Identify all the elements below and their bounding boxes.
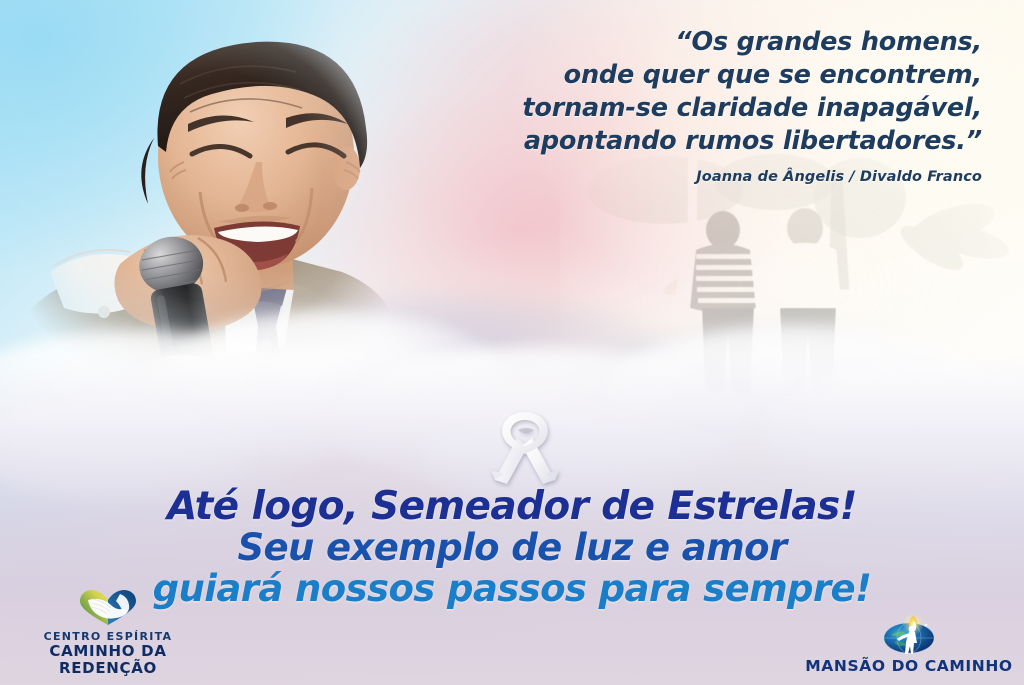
quote-line-1: “Os grandes homens,: [422, 26, 982, 59]
logo-right-line-1: MANSÃO DO CAMINHO: [804, 658, 1014, 675]
headline-line-2: Seu exemplo de luz e amor: [0, 527, 1024, 568]
poster-canvas: “Os grandes homens, onde quer que se enc…: [0, 0, 1024, 685]
logo-centro-espirita: CENTRO ESPÍRITA CAMINHO DA REDENÇÃO: [8, 588, 208, 677]
quote-line-3: tornam-se claridade inapagável,: [422, 92, 982, 125]
globe-figure-flame-icon: [882, 614, 936, 656]
quote-line-4: apontando rumos libertadores.”: [422, 125, 982, 158]
logo-mansao-do-caminho: MANSÃO DO CAMINHO: [804, 614, 1014, 675]
mourning-ribbon-icon: [487, 408, 563, 486]
quote-attribution: Joanna de Ângelis / Divaldo Franco: [422, 169, 982, 185]
logo-left-line-2: CAMINHO DA REDENÇÃO: [8, 643, 208, 677]
heart-hands-icon: [76, 588, 140, 628]
headline-line-1: Até logo, Semeador de Estrelas!: [0, 486, 1024, 527]
quote-line-2: onde quer que se encontrem,: [422, 59, 982, 92]
quote-block: “Os grandes homens, onde quer que se enc…: [422, 26, 982, 185]
